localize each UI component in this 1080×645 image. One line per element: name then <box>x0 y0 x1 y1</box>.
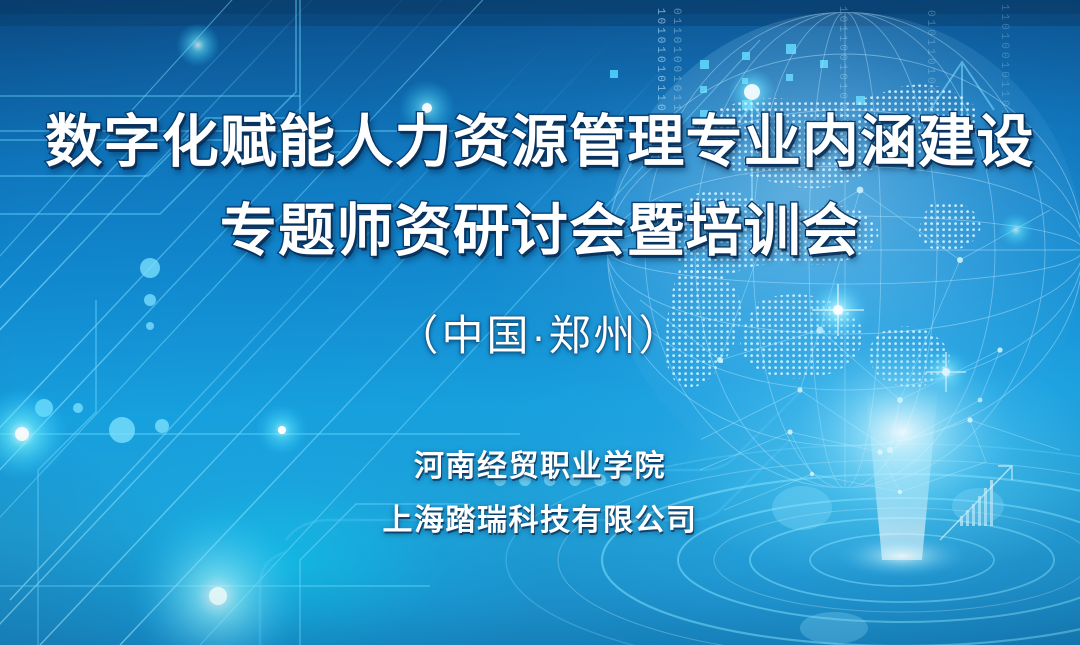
organizers-block: 河南经贸职业学院 上海踏瑞科技有限公司 <box>383 441 698 539</box>
banner-content: 数字化赋能人力资源管理专业内涵建设 专题师资研讨会暨培训会 （中国·郑州） 河南… <box>0 0 1080 645</box>
title-block: 数字化赋能人力资源管理专业内涵建设 专题师资研讨会暨培训会 <box>0 114 1080 260</box>
location-subtitle: （中国·郑州） <box>397 302 684 363</box>
organizer-line-2: 上海踏瑞科技有限公司 <box>383 495 698 539</box>
title-line-1: 数字化赋能人力资源管理专业内涵建设 <box>0 114 1080 171</box>
conference-banner: 1010101011010101 0110100101101001 101100… <box>0 0 1080 645</box>
organizer-line-1: 河南经贸职业学院 <box>414 441 666 485</box>
title-line-2: 专题师资研讨会暨培训会 <box>0 203 1080 260</box>
